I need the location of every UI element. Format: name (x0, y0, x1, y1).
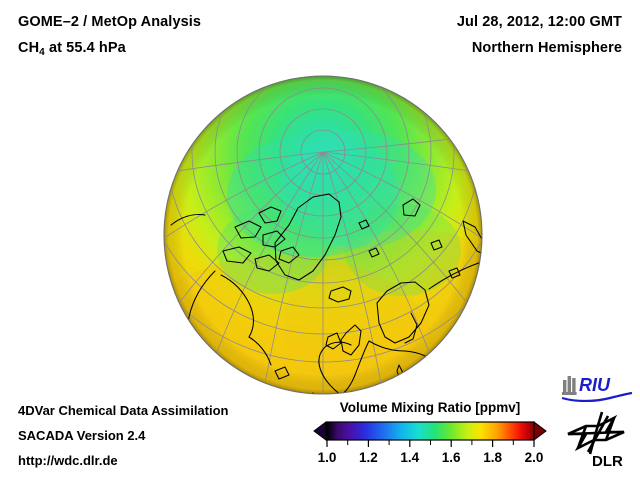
species-name: CH (18, 40, 39, 56)
footer-line-version: SACADA Version 2.4 (18, 428, 145, 443)
dlr-logo-text: DLR (592, 453, 623, 470)
footer-line-url[interactable]: http://wdc.dlr.de (18, 453, 118, 468)
globe-map (163, 75, 483, 395)
colorbar-title: Volume Mixing Ratio [ppmv] (312, 400, 548, 415)
colorbar-tick-0: 1.0 (318, 450, 337, 465)
riu-logo: RIU (560, 372, 634, 402)
colorbar-tick-4: 1.8 (483, 450, 502, 465)
orthographic-globe-svg (163, 75, 483, 395)
colorbar-gradient (312, 420, 548, 450)
colorbar-over-arrow (534, 422, 546, 440)
colorbar-tick-1: 1.2 (359, 450, 378, 465)
datetime-label: Jul 28, 2012, 12:00 GMT (457, 14, 622, 30)
page-title-species: CH4 at 55.4 hPa (18, 40, 126, 58)
colorbar-tick-2: 1.4 (400, 450, 419, 465)
colorbar-bar (327, 422, 534, 440)
footer-line-method: 4DVar Chemical Data Assimilation (18, 403, 229, 418)
colorbar-minor-ticks (348, 440, 514, 445)
colorbar-under-arrow (314, 422, 326, 440)
species-level: at 55.4 hPa (45, 40, 126, 56)
page-title-instrument: GOME–2 / MetOp Analysis (18, 14, 201, 30)
riu-tower-icon (562, 376, 577, 395)
region-label: Northern Hemisphere (472, 40, 622, 56)
colorbar-tick-3: 1.6 (442, 450, 461, 465)
colorbar-tick-labels: 1.0 1.2 1.4 1.6 1.8 2.0 (312, 450, 548, 470)
dlr-mark-icon (568, 412, 624, 454)
dlr-logo: DLR (562, 408, 634, 470)
colorbar-tick-5: 2.0 (525, 450, 544, 465)
riu-logo-text: RIU (579, 375, 611, 395)
colorbar: Volume Mixing Ratio [ppmv] (312, 400, 548, 472)
